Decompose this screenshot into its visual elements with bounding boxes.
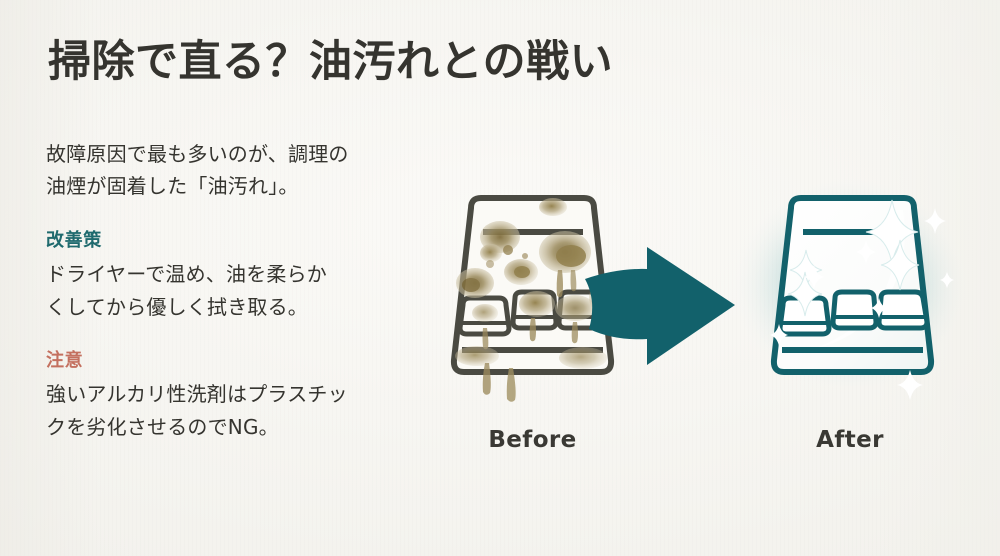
page-title: 掃除で直る？油汚れとの戦い <box>48 36 808 90</box>
after-figure <box>735 180 965 395</box>
intro-line-2: 油煙が固着した「油汚れ」。 <box>46 170 406 202</box>
arrow-shape <box>585 247 735 365</box>
burner-button-3 <box>879 292 927 328</box>
section-heading-improvement: 改善策 <box>46 229 406 252</box>
text-column: 故障原因で最も多いのが、調理の 油煙が固着した「油汚れ」。 改善策 ドライヤーで… <box>46 138 406 443</box>
intro-paragraph: 故障原因で最も多いのが、調理の 油煙が固着した「油汚れ」。 <box>46 138 406 203</box>
transform-arrow <box>583 243 743 373</box>
caption-after: After <box>735 427 965 453</box>
burner-button-2 <box>833 292 876 328</box>
caption-before: Before <box>425 427 640 453</box>
caution-body: 強いアルカリ性洗剤はプラスチッ クを劣化させるのでNG。 <box>46 378 406 443</box>
slide-canvas: 掃除で直る？油汚れとの戦い 故障原因で最も多いのが、調理の 油煙が固着した「油汚… <box>0 0 1000 556</box>
clean-appliance-icon <box>735 180 965 395</box>
section-improvement: 改善策 ドライヤーで温め、油を柔らか くしてから優しく拭き取る。 <box>46 229 406 323</box>
caution-line-1: 強いアルカリ性洗剤はプラスチッ <box>46 378 406 410</box>
improvement-line-2: くしてから優しく拭き取る。 <box>46 291 406 323</box>
illustration-area: Before After <box>415 175 975 485</box>
improvement-body: ドライヤーで温め、油を柔らか くしてから優しく拭き取る。 <box>46 258 406 323</box>
section-heading-caution: 注意 <box>46 349 406 372</box>
section-caution: 注意 強いアルカリ性洗剤はプラスチッ クを劣化させるのでNG。 <box>46 349 406 443</box>
intro-line-1: 故障原因で最も多いのが、調理の <box>46 138 406 170</box>
caution-line-2: クを劣化させるのでNG。 <box>46 411 406 443</box>
improvement-line-1: ドライヤーで温め、油を柔らか <box>46 258 406 290</box>
appliance-body-outline <box>774 198 931 372</box>
right-arrow-icon <box>583 243 743 373</box>
